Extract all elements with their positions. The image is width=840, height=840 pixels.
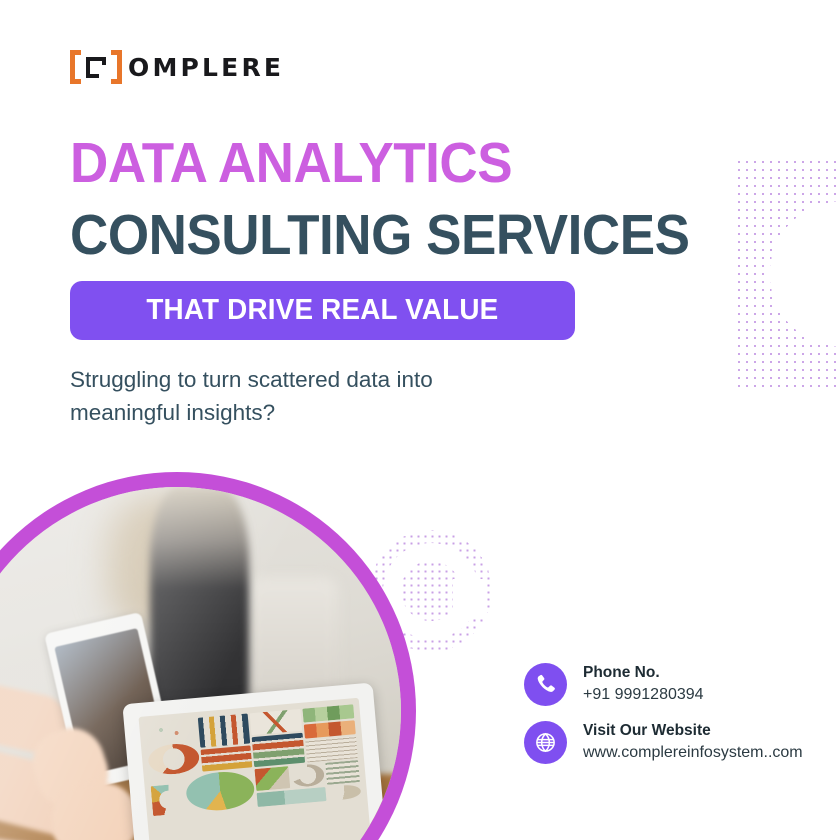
- globe-icon: [524, 721, 567, 764]
- contact-value[interactable]: www.complereinfosystem..com: [583, 742, 803, 764]
- photo-circle-frame: [0, 472, 416, 840]
- poster-canvas: OMPLERE DATA ANALYTICS CONSULTING SERVIC…: [0, 0, 840, 840]
- contact-row-website[interactable]: Visit Our Website www.complereinfosystem…: [524, 721, 803, 764]
- contact-text-phone: Phone No. +91 9991280394: [583, 663, 704, 706]
- contact-label: Phone No.: [583, 663, 704, 683]
- contact-text-website: Visit Our Website www.complereinfosystem…: [583, 721, 803, 764]
- contact-value[interactable]: +91 9991280394: [583, 684, 704, 706]
- contact-label: Visit Our Website: [583, 721, 803, 741]
- contact-info: Phone No. +91 9991280394 Visit Our Websi…: [524, 663, 803, 779]
- dashboard-horizontal-bars: [200, 745, 252, 771]
- dashboard-gauge-arc: [151, 783, 187, 816]
- tagline-banner: THAT DRIVE REAL VALUE: [70, 281, 575, 340]
- photo-laptop: [123, 683, 393, 840]
- dotted-c-gap: [832, 246, 840, 302]
- bracket-left-icon: [70, 50, 81, 84]
- dashboard-footer-chart: [257, 787, 326, 807]
- dashboard-legend-block: [325, 760, 360, 785]
- team-photo: [0, 487, 401, 840]
- photo-standing-person: [150, 487, 249, 729]
- dotted-c-shape-right: [735, 158, 840, 390]
- dashboard-line-chart: [250, 709, 302, 735]
- c-bracket-logo-icon: [70, 50, 122, 84]
- phone-icon: [524, 663, 567, 706]
- subtitle-text: Struggling to turn scattered data into m…: [70, 363, 540, 429]
- dashboard-world-map: [145, 718, 197, 744]
- dashboard-footer-donut: [327, 784, 361, 801]
- headline-line-1: DATA ANALYTICS: [70, 132, 690, 194]
- brand-logo[interactable]: OMPLERE: [70, 50, 284, 84]
- logo-wordmark: OMPLERE: [128, 53, 284, 82]
- dashboard-mini-donut: [290, 763, 325, 788]
- page-title: DATA ANALYTICS CONSULTING SERVICES: [70, 132, 736, 266]
- contact-row-phone[interactable]: Phone No. +91 9991280394: [524, 663, 803, 706]
- letter-c-box-icon: [86, 57, 106, 78]
- dashboard-pie-chart: [185, 769, 256, 813]
- tagline-text: THAT DRIVE REAL VALUE: [146, 294, 498, 327]
- dashboard-stacked-bars: [252, 733, 305, 767]
- dashboard-bar-chart: [198, 714, 251, 748]
- headline-line-2: CONSULTING SERVICES: [70, 204, 690, 266]
- photo-laptop-dashboard: [139, 698, 376, 840]
- bracket-right-icon: [111, 50, 122, 84]
- dashboard-text-lines: [305, 736, 357, 762]
- dashboard-donut-chart: [147, 742, 200, 776]
- dashboard-area-chart: [255, 766, 290, 791]
